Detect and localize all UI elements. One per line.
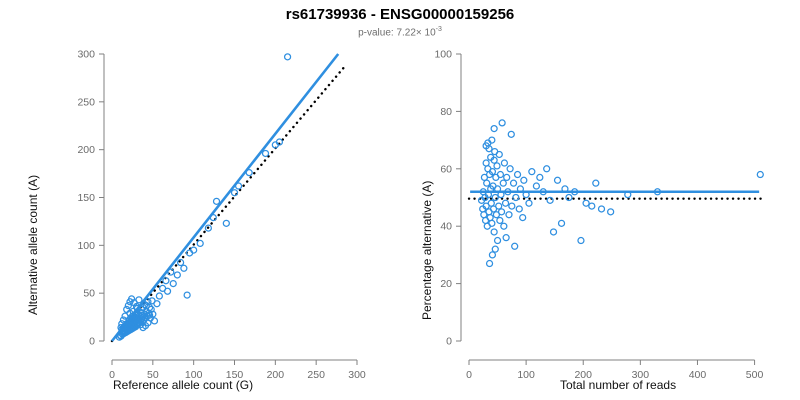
scatter-point (583, 200, 589, 206)
scatter-point (488, 200, 494, 206)
scatter-point (501, 160, 507, 166)
scatter-point (544, 166, 550, 172)
scatter-point (512, 243, 518, 249)
reference-line (112, 65, 346, 341)
x-axis-tick-label: 200 (267, 369, 285, 381)
scatter-point (174, 272, 180, 278)
scatter-points (479, 120, 764, 267)
scatter-point (513, 195, 519, 201)
x-axis-tick-label: 0 (466, 369, 472, 381)
scatter-point (491, 229, 497, 235)
scatter-point (497, 172, 503, 178)
y-axis-tick-label: 40 (440, 221, 452, 233)
x-axis-tick-label: 250 (307, 369, 325, 381)
scatter-point (487, 261, 493, 267)
scatter-point (757, 172, 763, 178)
x-axis-tick-label: 100 (517, 369, 535, 381)
scatter-point (555, 177, 561, 183)
scatter-point (170, 281, 176, 287)
pvalue-subtitle: p-value: 7.22× 10-3 (0, 26, 800, 38)
pvalue-exponent: -3 (436, 26, 442, 33)
scatter-point (551, 229, 557, 235)
scatter-points (116, 54, 290, 340)
scatter-point (136, 297, 142, 303)
scatter-point (223, 220, 229, 226)
scatter-point (578, 238, 584, 244)
scatter-point (214, 198, 220, 204)
scatter-point (184, 292, 190, 298)
scatter-point (232, 190, 238, 196)
left-y-axis-label: Alternative allele count (A) (26, 175, 40, 315)
scatter-point (504, 174, 510, 180)
scatter-point (491, 126, 497, 132)
scatter-point (509, 203, 515, 209)
scatter-point (165, 288, 171, 294)
scatter-point (547, 197, 553, 203)
scatter-point (520, 215, 526, 221)
y-axis-tick-label: 0 (446, 336, 452, 348)
x-axis-tick-label: 300 (348, 369, 366, 381)
y-axis-tick-label: 200 (77, 144, 95, 156)
scatter-point (197, 240, 203, 246)
scatter-point (507, 166, 513, 172)
scatter-point (487, 215, 493, 221)
scatter-point (537, 174, 543, 180)
scatter-point (483, 160, 489, 166)
y-axis-tick-label: 150 (77, 192, 95, 204)
scatter-point (503, 200, 509, 206)
y-axis-tick-label: 100 (434, 49, 452, 61)
scatter-point (484, 180, 490, 186)
y-axis-tick-label: 50 (83, 288, 95, 300)
scatter-point (593, 180, 599, 186)
scatter-point (499, 209, 505, 215)
left-x-axis-label: Reference allele count (G) (113, 378, 253, 392)
scatter-point (521, 177, 527, 183)
y-axis-tick-label: 20 (440, 278, 452, 290)
scatter-point (285, 54, 291, 60)
scatter-point (499, 120, 505, 126)
figure-root: rs61739936 - ENSG00000159256 p-value: 7.… (0, 0, 800, 400)
scatter-point (511, 180, 517, 186)
scatter-point (168, 269, 174, 275)
scatter-point (497, 217, 503, 223)
scatter-point (566, 195, 572, 201)
y-axis-tick-label: 300 (77, 49, 95, 61)
page-title: rs61739936 - ENSG00000159256 (0, 6, 800, 23)
y-axis-tick-label: 250 (77, 96, 95, 108)
pvalue-times: × 10 (416, 27, 436, 38)
scatter-point (501, 223, 507, 229)
scatter-point (246, 170, 252, 176)
percentage-alternative-plot: 0204060801000100200300400500 (400, 40, 800, 400)
scatter-point (263, 150, 269, 156)
fit-line (112, 54, 338, 341)
scatter-point (559, 220, 565, 226)
scatter-point (181, 265, 187, 271)
right-y-axis-label: Percentage alternative (A) (420, 181, 434, 320)
y-axis-tick-label: 100 (77, 240, 95, 252)
scatter-point (533, 183, 539, 189)
panel-percentage-alternative: 0204060801000100200300400500 Percentage … (400, 40, 800, 400)
scatter-point (589, 203, 595, 209)
scatter-point (526, 200, 532, 206)
scatter-point (529, 169, 535, 175)
y-axis-tick-label: 80 (440, 106, 452, 118)
y-axis-tick-label: 0 (89, 336, 95, 348)
scatter-point (494, 163, 500, 169)
scatter-point (178, 260, 184, 266)
scatter-point (149, 298, 155, 304)
scatter-point (500, 180, 506, 186)
scatter-point (492, 246, 498, 252)
scatter-point (496, 203, 502, 209)
y-axis-tick-label: 60 (440, 163, 452, 175)
right-x-axis-label: Total number of reads (560, 378, 676, 392)
scatter-point (515, 172, 521, 178)
scatter-point (489, 252, 495, 258)
x-axis-tick-label: 400 (689, 369, 707, 381)
scatter-point (210, 215, 216, 221)
scatter-point (492, 195, 498, 201)
scatter-point (516, 206, 522, 212)
allele-count-plot: 050100150200250300050100150200250300 (0, 40, 400, 400)
scatter-point (599, 206, 605, 212)
scatter-point (156, 293, 162, 299)
scatter-point (495, 238, 501, 244)
scatter-point (503, 235, 509, 241)
scatter-point (508, 131, 514, 137)
scatter-point (489, 220, 495, 226)
scatter-point (506, 212, 512, 218)
panel-allele-count: 050100150200250300050100150200250300 Alt… (0, 40, 400, 400)
pvalue-prefix: p-value: 7.22 (358, 27, 416, 38)
scatter-point (236, 183, 242, 189)
x-axis-tick-label: 500 (746, 369, 764, 381)
scatter-point (496, 151, 502, 157)
scatter-point (608, 209, 614, 215)
